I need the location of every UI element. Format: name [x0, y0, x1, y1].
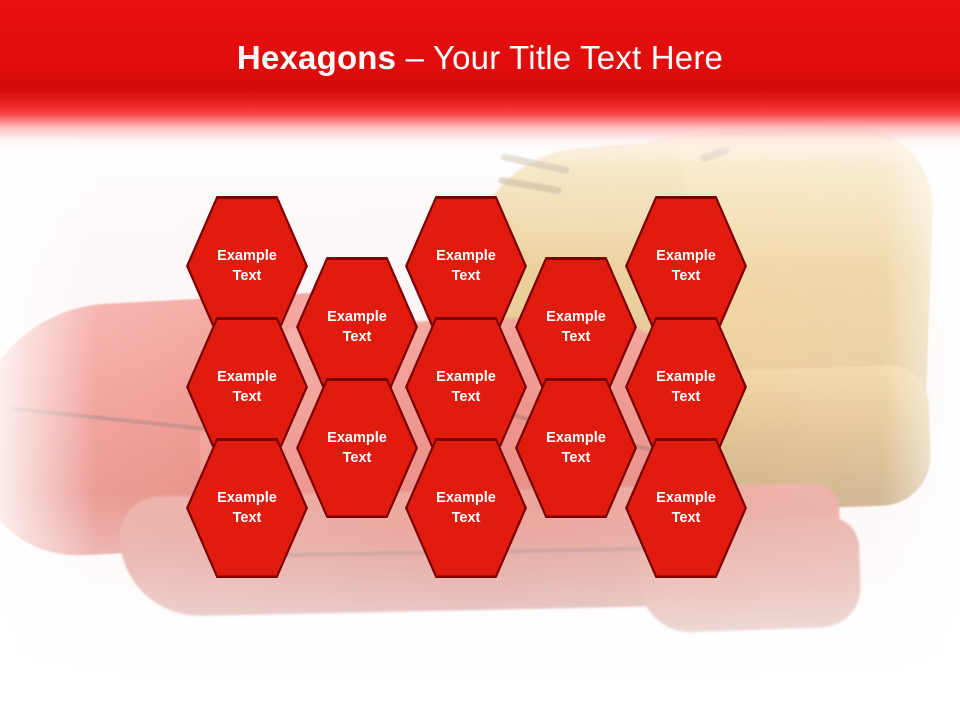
hexagon-label: Example Text — [217, 488, 277, 529]
hexagon-label: Example Text — [436, 488, 496, 529]
slide: Hexagons – Your Title Text Here Example … — [0, 0, 960, 720]
hexagon-shape[interactable]: Example Text — [625, 317, 747, 457]
hexagon-shape[interactable]: Example Text — [625, 438, 747, 578]
hexagon-label: Example Text — [656, 367, 716, 408]
hexagon-face[interactable]: Example Text — [628, 199, 745, 334]
hexagon-label: Example Text — [546, 307, 606, 348]
hexagon-face[interactable]: Example Text — [299, 260, 416, 395]
hexagon-label: Example Text — [546, 428, 606, 469]
hexagon-shape[interactable]: Example Text — [296, 378, 418, 518]
hexagon-face[interactable]: Example Text — [408, 441, 525, 576]
hexagon-shape[interactable]: Example Text — [515, 378, 637, 518]
hexagon-label: Example Text — [217, 246, 277, 287]
hexagon-face[interactable]: Example Text — [189, 199, 306, 334]
hexagon-face[interactable]: Example Text — [189, 320, 306, 455]
hexagon-shape[interactable]: Example Text — [405, 196, 527, 336]
hexagon-label: Example Text — [327, 428, 387, 469]
hexagon-face[interactable]: Example Text — [408, 320, 525, 455]
hexagon-face[interactable]: Example Text — [518, 260, 635, 395]
hexagon-shape[interactable]: Example Text — [296, 257, 418, 397]
hexagon-label: Example Text — [436, 367, 496, 408]
title-banner-glow — [0, 116, 960, 150]
hexagon-label: Example Text — [436, 246, 496, 287]
hexagon-face[interactable]: Example Text — [628, 320, 745, 455]
hexagon-shape[interactable]: Example Text — [186, 317, 308, 457]
hexagon-shape[interactable]: Example Text — [405, 438, 527, 578]
hexagon-label: Example Text — [327, 307, 387, 348]
hexagon-face[interactable]: Example Text — [299, 381, 416, 516]
page-title-rest: – Your Title Text Here — [396, 39, 723, 77]
page-title-bold: Hexagons — [237, 39, 396, 77]
hexagon-label: Example Text — [217, 367, 277, 408]
hexagon-shape[interactable]: Example Text — [405, 317, 527, 457]
hexagon-face[interactable]: Example Text — [628, 441, 745, 576]
hexagon-face[interactable]: Example Text — [408, 199, 525, 334]
hexagon-label: Example Text — [656, 488, 716, 529]
hexagon-face[interactable]: Example Text — [518, 381, 635, 516]
hexagon-shape[interactable]: Example Text — [186, 196, 308, 336]
hexagon-label: Example Text — [656, 246, 716, 287]
hexagon-shape[interactable]: Example Text — [186, 438, 308, 578]
hexagon-shape[interactable]: Example Text — [515, 257, 637, 397]
page-title: Hexagons – Your Title Text Here — [0, 0, 960, 116]
hexagon-shape[interactable]: Example Text — [625, 196, 747, 336]
hexagon-face[interactable]: Example Text — [189, 441, 306, 576]
